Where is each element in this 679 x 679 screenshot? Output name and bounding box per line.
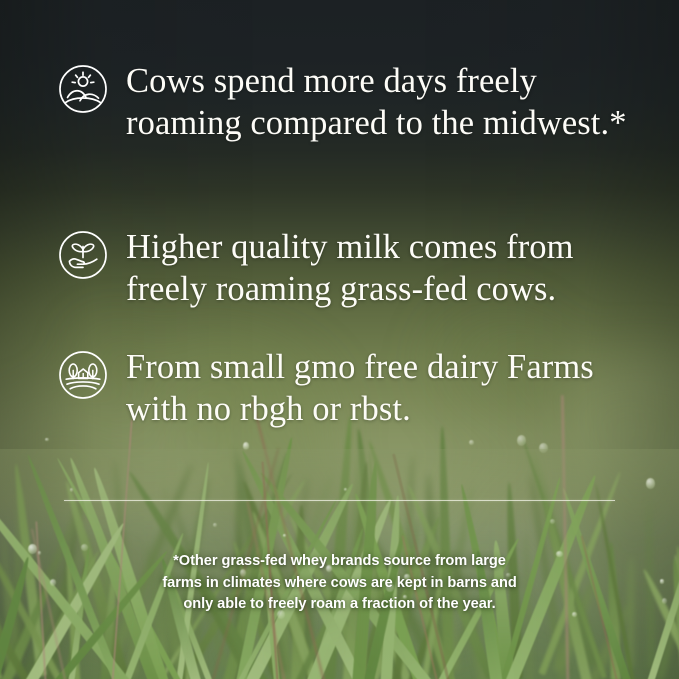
claim-text: From small gmo free dairy Farms with no … bbox=[126, 346, 638, 431]
content-overlay: Cows spend more days freely roaming comp… bbox=[0, 0, 679, 679]
footnote-line: only able to freely roam a fraction of t… bbox=[0, 594, 679, 616]
footnote-line: *Other grass-fed whey brands source from… bbox=[0, 551, 679, 573]
claim-text: Higher quality milk comes from freely ro… bbox=[126, 226, 648, 311]
claim-text: Cows spend more days freely roaming comp… bbox=[126, 60, 638, 145]
claim-item: Higher quality milk comes from freely ro… bbox=[58, 226, 648, 311]
footnote-line: farms in climates where cows are kept in… bbox=[0, 573, 679, 595]
claim-item: Cows spend more days freely roaming comp… bbox=[58, 60, 638, 145]
marketing-infographic: Cows spend more days freely roaming comp… bbox=[0, 0, 679, 679]
small-farm-icon bbox=[58, 350, 108, 400]
hand-holding-sprout-icon bbox=[58, 230, 108, 280]
section-divider bbox=[64, 500, 615, 501]
claim-item: From small gmo free dairy Farms with no … bbox=[58, 346, 638, 431]
sunrise-over-field-icon bbox=[58, 64, 108, 114]
footnote: *Other grass-fed whey brands source from… bbox=[0, 551, 679, 616]
